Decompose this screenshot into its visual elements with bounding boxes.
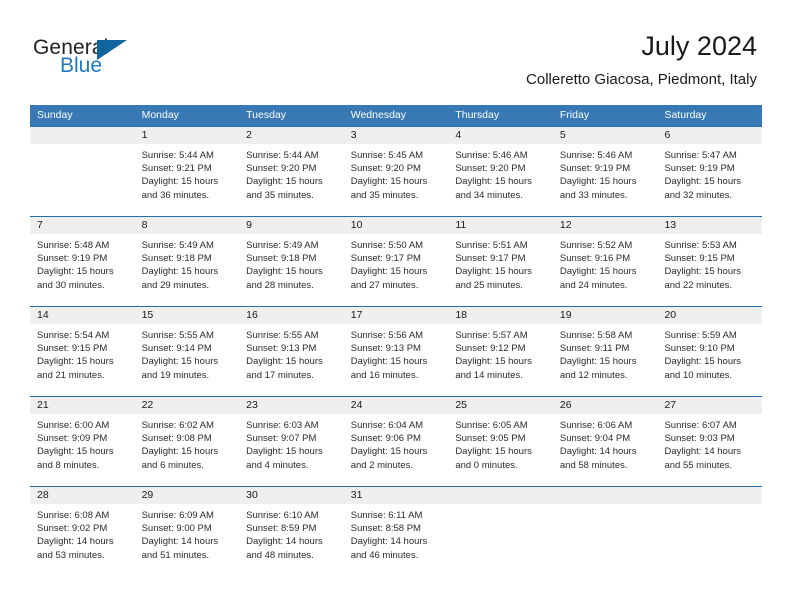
- day-cell[interactable]: Sunrise: 5:53 AM Sunset: 9:15 PM Dayligh…: [657, 234, 762, 306]
- daylight-text-line2: and 46 minutes.: [351, 549, 443, 562]
- daylight-text-line2: and 2 minutes.: [351, 459, 443, 472]
- calendar-week-row: 21 22 23 24 25 26 27 Sunrise: 6:00 AM Su…: [30, 396, 762, 486]
- daylight-text-line2: and 28 minutes.: [246, 279, 338, 292]
- daylight-text-line2: and 17 minutes.: [246, 369, 338, 382]
- daylight-text-line1: Daylight: 15 hours: [246, 175, 338, 188]
- sunset-text: Sunset: 9:08 PM: [142, 432, 234, 445]
- sunrise-text: Sunrise: 5:47 AM: [664, 149, 756, 162]
- weekday-header-monday: Monday: [135, 105, 240, 126]
- day-number[interactable]: 11: [448, 217, 553, 234]
- sunrise-text: Sunrise: 5:45 AM: [351, 149, 443, 162]
- daylight-text-line1: Daylight: 15 hours: [142, 175, 234, 188]
- daylight-text-line2: and 4 minutes.: [246, 459, 338, 472]
- daylight-text-line2: and 0 minutes.: [455, 459, 547, 472]
- day-cell[interactable]: Sunrise: 6:07 AM Sunset: 9:03 PM Dayligh…: [657, 414, 762, 486]
- weekday-header-tuesday: Tuesday: [239, 105, 344, 126]
- daylight-text-line1: Daylight: 15 hours: [246, 445, 338, 458]
- sunset-text: Sunset: 9:02 PM: [37, 522, 129, 535]
- week-daynumber-band: 28 29 30 31: [30, 487, 762, 504]
- daylight-text-line1: Daylight: 14 hours: [560, 445, 652, 458]
- weekday-header-saturday: Saturday: [657, 105, 762, 126]
- daylight-text-line2: and 14 minutes.: [455, 369, 547, 382]
- sunset-text: Sunset: 9:18 PM: [142, 252, 234, 265]
- sunset-text: Sunset: 9:00 PM: [142, 522, 234, 535]
- daylight-text-line1: Daylight: 14 hours: [664, 445, 756, 458]
- daylight-text-line2: and 35 minutes.: [246, 189, 338, 202]
- daylight-text-line2: and 27 minutes.: [351, 279, 443, 292]
- sunset-text: Sunset: 8:58 PM: [351, 522, 443, 535]
- weekday-header-thursday: Thursday: [448, 105, 553, 126]
- day-number[interactable]: [30, 127, 135, 144]
- day-number[interactable]: 2: [239, 127, 344, 144]
- day-number[interactable]: 28: [30, 487, 135, 504]
- title-block: July 2024 Colleretto Giacosa, Piedmont, …: [526, 30, 757, 89]
- day-number[interactable]: 10: [344, 217, 449, 234]
- daylight-text-line1: Daylight: 14 hours: [142, 535, 234, 548]
- daylight-text-line2: and 34 minutes.: [455, 189, 547, 202]
- sunset-text: Sunset: 9:17 PM: [455, 252, 547, 265]
- sunrise-text: Sunrise: 5:51 AM: [455, 239, 547, 252]
- calendar-week-row: 1 2 3 4 5 6 Sunrise: 5:44 AM Sunset: 9:2…: [30, 126, 762, 216]
- sunrise-text: Sunrise: 5:48 AM: [37, 239, 129, 252]
- daylight-text-line2: and 30 minutes.: [37, 279, 129, 292]
- week-detail-band: Sunrise: 6:00 AM Sunset: 9:09 PM Dayligh…: [30, 414, 762, 486]
- daylight-text-line1: Daylight: 15 hours: [455, 175, 547, 188]
- day-cell[interactable]: Sunrise: 6:09 AM Sunset: 9:00 PM Dayligh…: [135, 504, 240, 576]
- sunset-text: Sunset: 9:12 PM: [455, 342, 547, 355]
- sunrise-text: Sunrise: 6:10 AM: [246, 509, 338, 522]
- sunrise-text: Sunrise: 6:02 AM: [142, 419, 234, 432]
- sunrise-text: Sunrise: 6:04 AM: [351, 419, 443, 432]
- calendar-week-row: 14 15 16 17 18 19 20 Sunrise: 5:54 AM Su…: [30, 306, 762, 396]
- sunrise-text: Sunrise: 5:52 AM: [560, 239, 652, 252]
- sunrise-text: Sunrise: 5:55 AM: [246, 329, 338, 342]
- daylight-text-line2: and 22 minutes.: [664, 279, 756, 292]
- day-cell[interactable]: [657, 504, 762, 576]
- sunset-text: Sunset: 9:19 PM: [37, 252, 129, 265]
- calendar-week-row: 7 8 9 10 11 12 13 Sunrise: 5:48 AM Sunse…: [30, 216, 762, 306]
- day-cell[interactable]: Sunrise: 5:46 AM Sunset: 9:20 PM Dayligh…: [448, 144, 553, 216]
- day-cell[interactable]: Sunrise: 5:50 AM Sunset: 9:17 PM Dayligh…: [344, 234, 449, 306]
- daylight-text-line1: Daylight: 15 hours: [455, 265, 547, 278]
- daylight-text-line1: Daylight: 15 hours: [664, 265, 756, 278]
- day-cell[interactable]: Sunrise: 5:46 AM Sunset: 9:19 PM Dayligh…: [553, 144, 658, 216]
- brand-name-blue: Blue: [60, 54, 102, 78]
- sunset-text: Sunset: 9:20 PM: [246, 162, 338, 175]
- day-number[interactable]: 3: [344, 127, 449, 144]
- daylight-text-line1: Daylight: 15 hours: [351, 445, 443, 458]
- day-cell[interactable]: Sunrise: 6:06 AM Sunset: 9:04 PM Dayligh…: [553, 414, 658, 486]
- sunrise-text: Sunrise: 6:09 AM: [142, 509, 234, 522]
- sunset-text: Sunset: 9:06 PM: [351, 432, 443, 445]
- sunset-text: Sunset: 9:13 PM: [351, 342, 443, 355]
- day-number[interactable]: 19: [553, 307, 658, 324]
- daylight-text-line2: and 58 minutes.: [560, 459, 652, 472]
- day-cell[interactable]: Sunrise: 5:51 AM Sunset: 9:17 PM Dayligh…: [448, 234, 553, 306]
- day-cell[interactable]: [30, 144, 135, 216]
- daylight-text-line1: Daylight: 14 hours: [246, 535, 338, 548]
- daylight-text-line1: Daylight: 15 hours: [664, 355, 756, 368]
- daylight-text-line1: Daylight: 15 hours: [455, 355, 547, 368]
- day-number[interactable]: 30: [239, 487, 344, 504]
- day-cell[interactable]: Sunrise: 5:49 AM Sunset: 9:18 PM Dayligh…: [239, 234, 344, 306]
- day-number[interactable]: [657, 487, 762, 504]
- sunrise-text: Sunrise: 5:58 AM: [560, 329, 652, 342]
- day-cell[interactable]: Sunrise: 5:56 AM Sunset: 9:13 PM Dayligh…: [344, 324, 449, 396]
- day-number[interactable]: 23: [239, 397, 344, 414]
- daylight-text-line1: Daylight: 14 hours: [351, 535, 443, 548]
- day-cell[interactable]: Sunrise: 5:47 AM Sunset: 9:19 PM Dayligh…: [657, 144, 762, 216]
- day-number[interactable]: 13: [657, 217, 762, 234]
- weekday-header-row: Sunday Monday Tuesday Wednesday Thursday…: [30, 105, 762, 126]
- calendar-grid: Sunday Monday Tuesday Wednesday Thursday…: [30, 105, 762, 576]
- day-cell[interactable]: Sunrise: 5:59 AM Sunset: 9:10 PM Dayligh…: [657, 324, 762, 396]
- daylight-text-line2: and 29 minutes.: [142, 279, 234, 292]
- daylight-text-line2: and 51 minutes.: [142, 549, 234, 562]
- day-number[interactable]: 16: [239, 307, 344, 324]
- sunset-text: Sunset: 9:09 PM: [37, 432, 129, 445]
- daylight-text-line1: Daylight: 15 hours: [351, 265, 443, 278]
- day-number[interactable]: 12: [553, 217, 658, 234]
- sunset-text: Sunset: 8:59 PM: [246, 522, 338, 535]
- daylight-text-line1: Daylight: 15 hours: [560, 355, 652, 368]
- daylight-text-line2: and 36 minutes.: [142, 189, 234, 202]
- sunset-text: Sunset: 9:19 PM: [664, 162, 756, 175]
- day-number[interactable]: 26: [553, 397, 658, 414]
- day-number[interactable]: 25: [448, 397, 553, 414]
- brand-logo: General Blue: [33, 36, 153, 82]
- day-cell[interactable]: Sunrise: 6:08 AM Sunset: 9:02 PM Dayligh…: [30, 504, 135, 576]
- calendar-page: General Blue July 2024 Colleretto Giacos…: [0, 0, 792, 612]
- day-number[interactable]: 21: [30, 397, 135, 414]
- day-cell[interactable]: Sunrise: 5:55 AM Sunset: 9:13 PM Dayligh…: [239, 324, 344, 396]
- sunrise-text: Sunrise: 5:50 AM: [351, 239, 443, 252]
- sunset-text: Sunset: 9:04 PM: [560, 432, 652, 445]
- day-number[interactable]: 27: [657, 397, 762, 414]
- day-cell[interactable]: Sunrise: 5:58 AM Sunset: 9:11 PM Dayligh…: [553, 324, 658, 396]
- day-cell[interactable]: Sunrise: 6:00 AM Sunset: 9:09 PM Dayligh…: [30, 414, 135, 486]
- sunrise-text: Sunrise: 5:56 AM: [351, 329, 443, 342]
- sunset-text: Sunset: 9:15 PM: [37, 342, 129, 355]
- sunrise-text: Sunrise: 5:46 AM: [455, 149, 547, 162]
- week-daynumber-band: 7 8 9 10 11 12 13: [30, 217, 762, 234]
- day-number[interactable]: 14: [30, 307, 135, 324]
- day-number[interactable]: 22: [135, 397, 240, 414]
- daylight-text-line2: and 21 minutes.: [37, 369, 129, 382]
- sunset-text: Sunset: 9:16 PM: [560, 252, 652, 265]
- daylight-text-line1: Daylight: 15 hours: [37, 265, 129, 278]
- sunset-text: Sunset: 9:19 PM: [560, 162, 652, 175]
- sunrise-text: Sunrise: 5:49 AM: [246, 239, 338, 252]
- daylight-text-line1: Daylight: 15 hours: [142, 265, 234, 278]
- day-number[interactable]: 17: [344, 307, 449, 324]
- calendar-week-row: 28 29 30 31 Sunrise: 6:08 AM Sunset: 9:0…: [30, 486, 762, 576]
- sunrise-text: Sunrise: 6:06 AM: [560, 419, 652, 432]
- day-cell[interactable]: Sunrise: 6:03 AM Sunset: 9:07 PM Dayligh…: [239, 414, 344, 486]
- sunrise-text: Sunrise: 6:05 AM: [455, 419, 547, 432]
- day-number[interactable]: 6: [657, 127, 762, 144]
- daylight-text-line2: and 6 minutes.: [142, 459, 234, 472]
- sunrise-text: Sunrise: 5:49 AM: [142, 239, 234, 252]
- week-daynumber-band: 1 2 3 4 5 6: [30, 127, 762, 144]
- day-cell[interactable]: Sunrise: 5:55 AM Sunset: 9:14 PM Dayligh…: [135, 324, 240, 396]
- sunset-text: Sunset: 9:20 PM: [351, 162, 443, 175]
- sunset-text: Sunset: 9:11 PM: [560, 342, 652, 355]
- week-daynumber-band: 14 15 16 17 18 19 20: [30, 307, 762, 324]
- week-detail-band: Sunrise: 6:08 AM Sunset: 9:02 PM Dayligh…: [30, 504, 762, 576]
- sunset-text: Sunset: 9:03 PM: [664, 432, 756, 445]
- day-cell[interactable]: Sunrise: 6:11 AM Sunset: 8:58 PM Dayligh…: [344, 504, 449, 576]
- daylight-text-line2: and 48 minutes.: [246, 549, 338, 562]
- daylight-text-line2: and 19 minutes.: [142, 369, 234, 382]
- day-cell[interactable]: [448, 504, 553, 576]
- sunset-text: Sunset: 9:15 PM: [664, 252, 756, 265]
- day-number[interactable]: 20: [657, 307, 762, 324]
- sunrise-text: Sunrise: 6:03 AM: [246, 419, 338, 432]
- page-subtitle: Colleretto Giacosa, Piedmont, Italy: [526, 71, 757, 89]
- sunset-text: Sunset: 9:17 PM: [351, 252, 443, 265]
- daylight-text-line2: and 35 minutes.: [351, 189, 443, 202]
- daylight-text-line1: Daylight: 15 hours: [37, 355, 129, 368]
- day-cell[interactable]: Sunrise: 5:49 AM Sunset: 9:18 PM Dayligh…: [135, 234, 240, 306]
- day-number[interactable]: 4: [448, 127, 553, 144]
- daylight-text-line1: Daylight: 15 hours: [351, 175, 443, 188]
- sunset-text: Sunset: 9:18 PM: [246, 252, 338, 265]
- sunset-text: Sunset: 9:07 PM: [246, 432, 338, 445]
- page-header: General Blue July 2024 Colleretto Giacos…: [0, 0, 792, 100]
- sunrise-text: Sunrise: 5:53 AM: [664, 239, 756, 252]
- sunrise-text: Sunrise: 5:55 AM: [142, 329, 234, 342]
- daylight-text-line1: Daylight: 14 hours: [37, 535, 129, 548]
- daylight-text-line1: Daylight: 15 hours: [246, 265, 338, 278]
- daylight-text-line2: and 8 minutes.: [37, 459, 129, 472]
- daylight-text-line2: and 33 minutes.: [560, 189, 652, 202]
- day-cell[interactable]: Sunrise: 5:48 AM Sunset: 9:19 PM Dayligh…: [30, 234, 135, 306]
- day-cell[interactable]: Sunrise: 5:45 AM Sunset: 9:20 PM Dayligh…: [344, 144, 449, 216]
- sunset-text: Sunset: 9:14 PM: [142, 342, 234, 355]
- day-number[interactable]: 29: [135, 487, 240, 504]
- sunset-text: Sunset: 9:05 PM: [455, 432, 547, 445]
- day-cell[interactable]: Sunrise: 6:02 AM Sunset: 9:08 PM Dayligh…: [135, 414, 240, 486]
- daylight-text-line2: and 24 minutes.: [560, 279, 652, 292]
- daylight-text-line2: and 53 minutes.: [37, 549, 129, 562]
- daylight-text-line2: and 10 minutes.: [664, 369, 756, 382]
- day-number[interactable]: 31: [344, 487, 449, 504]
- sunrise-text: Sunrise: 5:59 AM: [664, 329, 756, 342]
- day-cell[interactable]: Sunrise: 5:54 AM Sunset: 9:15 PM Dayligh…: [30, 324, 135, 396]
- weekday-header-sunday: Sunday: [30, 105, 135, 126]
- day-number[interactable]: 9: [239, 217, 344, 234]
- day-number[interactable]: 5: [553, 127, 658, 144]
- day-number[interactable]: 8: [135, 217, 240, 234]
- sunrise-text: Sunrise: 5:44 AM: [246, 149, 338, 162]
- sunrise-text: Sunrise: 6:08 AM: [37, 509, 129, 522]
- sunrise-text: Sunrise: 6:07 AM: [664, 419, 756, 432]
- sunrise-text: Sunrise: 5:54 AM: [37, 329, 129, 342]
- sunset-text: Sunset: 9:21 PM: [142, 162, 234, 175]
- day-cell[interactable]: Sunrise: 5:57 AM Sunset: 9:12 PM Dayligh…: [448, 324, 553, 396]
- daylight-text-line1: Daylight: 15 hours: [664, 175, 756, 188]
- day-cell[interactable]: Sunrise: 5:44 AM Sunset: 9:20 PM Dayligh…: [239, 144, 344, 216]
- daylight-text-line2: and 12 minutes.: [560, 369, 652, 382]
- sunrise-text: Sunrise: 6:00 AM: [37, 419, 129, 432]
- sunset-text: Sunset: 9:20 PM: [455, 162, 547, 175]
- day-number[interactable]: 18: [448, 307, 553, 324]
- daylight-text-line2: and 16 minutes.: [351, 369, 443, 382]
- day-cell[interactable]: Sunrise: 6:10 AM Sunset: 8:59 PM Dayligh…: [239, 504, 344, 576]
- daylight-text-line1: Daylight: 15 hours: [37, 445, 129, 458]
- day-number[interactable]: 24: [344, 397, 449, 414]
- week-detail-band: Sunrise: 5:44 AM Sunset: 9:21 PM Dayligh…: [30, 144, 762, 216]
- weekday-header-friday: Friday: [553, 105, 658, 126]
- page-title: July 2024: [526, 30, 757, 63]
- day-cell[interactable]: Sunrise: 6:05 AM Sunset: 9:05 PM Dayligh…: [448, 414, 553, 486]
- day-number[interactable]: 1: [135, 127, 240, 144]
- sunset-text: Sunset: 9:10 PM: [664, 342, 756, 355]
- day-cell[interactable]: Sunrise: 5:44 AM Sunset: 9:21 PM Dayligh…: [135, 144, 240, 216]
- daylight-text-line1: Daylight: 15 hours: [560, 265, 652, 278]
- sunrise-text: Sunrise: 5:46 AM: [560, 149, 652, 162]
- week-daynumber-band: 21 22 23 24 25 26 27: [30, 397, 762, 414]
- day-number[interactable]: [448, 487, 553, 504]
- weekday-header-wednesday: Wednesday: [344, 105, 449, 126]
- day-cell[interactable]: Sunrise: 6:04 AM Sunset: 9:06 PM Dayligh…: [344, 414, 449, 486]
- sunset-text: Sunset: 9:13 PM: [246, 342, 338, 355]
- day-number[interactable]: 7: [30, 217, 135, 234]
- daylight-text-line2: and 25 minutes.: [455, 279, 547, 292]
- sunrise-text: Sunrise: 5:57 AM: [455, 329, 547, 342]
- daylight-text-line1: Daylight: 15 hours: [351, 355, 443, 368]
- daylight-text-line1: Daylight: 15 hours: [560, 175, 652, 188]
- day-number[interactable]: [553, 487, 658, 504]
- sunrise-text: Sunrise: 6:11 AM: [351, 509, 443, 522]
- daylight-text-line1: Daylight: 15 hours: [142, 445, 234, 458]
- daylight-text-line1: Daylight: 15 hours: [455, 445, 547, 458]
- week-detail-band: Sunrise: 5:54 AM Sunset: 9:15 PM Dayligh…: [30, 324, 762, 396]
- sunrise-text: Sunrise: 5:44 AM: [142, 149, 234, 162]
- daylight-text-line1: Daylight: 15 hours: [246, 355, 338, 368]
- daylight-text-line2: and 32 minutes.: [664, 189, 756, 202]
- daylight-text-line1: Daylight: 15 hours: [142, 355, 234, 368]
- week-detail-band: Sunrise: 5:48 AM Sunset: 9:19 PM Dayligh…: [30, 234, 762, 306]
- day-cell[interactable]: Sunrise: 5:52 AM Sunset: 9:16 PM Dayligh…: [553, 234, 658, 306]
- daylight-text-line2: and 55 minutes.: [664, 459, 756, 472]
- day-number[interactable]: 15: [135, 307, 240, 324]
- day-cell[interactable]: [553, 504, 658, 576]
